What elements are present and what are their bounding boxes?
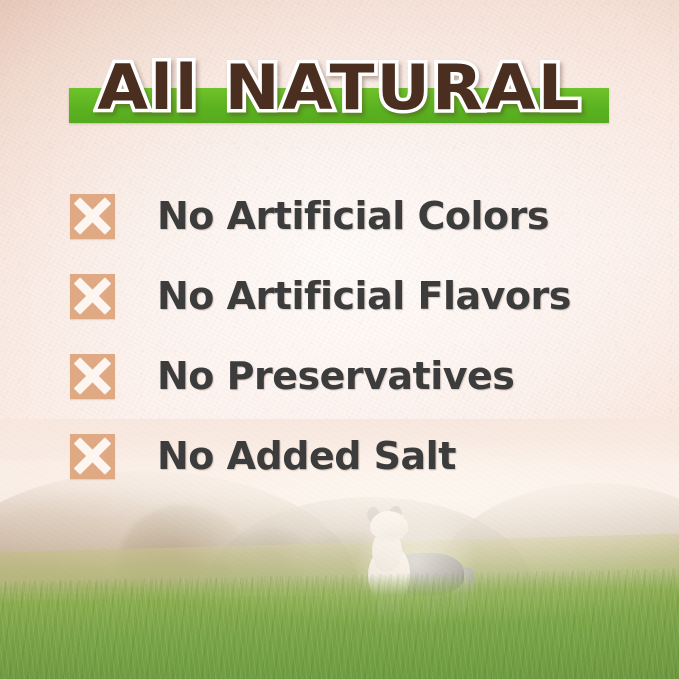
- feature-item: No Added Salt: [70, 416, 630, 496]
- feature-list: No Artificial Colors No Artificial Flavo…: [70, 176, 630, 496]
- feature-item: No Artificial Colors: [70, 176, 630, 256]
- banner: All NATURAL: [0, 50, 679, 132]
- all-natural-product-poster: All NATURAL No Artificial Colors No Arti…: [0, 0, 679, 679]
- feature-label: No Artificial Colors: [157, 197, 549, 235]
- dog-snout: [382, 523, 408, 537]
- x-mark-icon: [70, 434, 115, 479]
- feature-label: No Preservatives: [157, 357, 514, 395]
- foreground-grass: [0, 568, 679, 679]
- feature-label: No Artificial Flavors: [157, 277, 571, 315]
- feature-item: No Artificial Flavors: [70, 256, 630, 336]
- x-mark-icon: [70, 194, 115, 239]
- feature-item: No Preservatives: [70, 336, 630, 416]
- feature-label: No Added Salt: [157, 437, 456, 475]
- x-mark-icon: [70, 354, 115, 399]
- banner-title: All NATURAL: [0, 50, 679, 126]
- x-mark-icon: [70, 274, 115, 319]
